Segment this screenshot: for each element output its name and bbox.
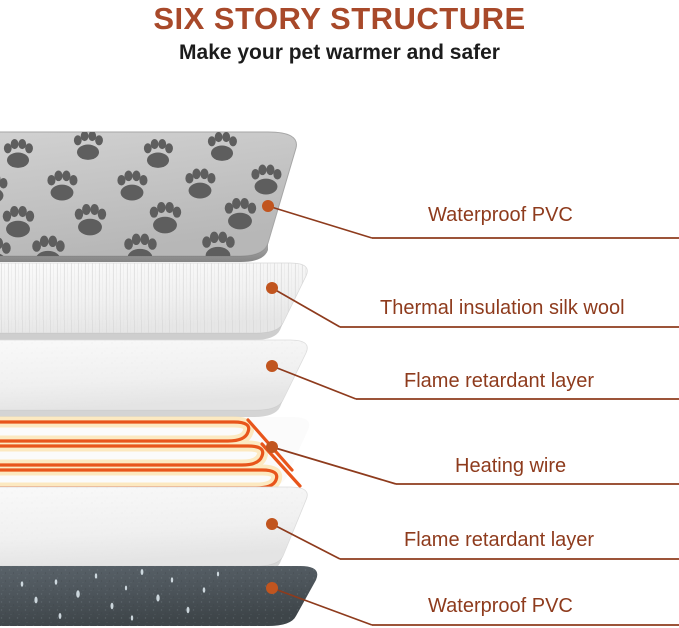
water-droplet — [125, 586, 127, 591]
water-droplet — [156, 594, 159, 601]
water-droplet — [111, 603, 114, 609]
water-droplet — [171, 577, 173, 582]
water-droplet — [131, 615, 133, 620]
leader-anchor-dot — [262, 200, 274, 212]
layer-label-silk-wool: Thermal insulation silk wool — [380, 296, 625, 320]
water-droplet — [34, 597, 37, 604]
water-droplet — [59, 613, 62, 619]
leader-anchor-dot — [266, 282, 278, 294]
water-droplet — [217, 572, 219, 577]
layer-bottom-pvc — [0, 566, 340, 628]
bottom-pvc-grain-texture — [0, 566, 340, 628]
infographic-root: SIX STORY STRUCTURE Make your pet warmer… — [0, 0, 679, 628]
layer-label-bottom-pvc: Waterproof PVC — [428, 594, 573, 618]
layer-top-pvc — [0, 131, 296, 270]
water-droplet — [187, 607, 190, 613]
water-droplet — [76, 590, 80, 598]
layer-label-top-pvc: Waterproof PVC — [428, 203, 573, 227]
layer-label-heating-wire: Heating wire — [455, 454, 566, 478]
silk-wool-fibre-texture — [0, 263, 320, 333]
layer-silk-wool — [0, 263, 320, 340]
layer-label-flame-lower: Flame retardant layer — [404, 528, 594, 552]
flame-retardant-upper-texture — [0, 340, 320, 410]
water-droplet — [95, 573, 97, 578]
layer-label-flame-upper: Flame retardant layer — [404, 369, 594, 393]
water-droplet — [203, 587, 206, 593]
leader-line — [268, 206, 372, 238]
leader-anchor-dot — [266, 360, 278, 372]
leader-anchor-dot — [266, 582, 278, 594]
leader-anchor-dot — [266, 441, 278, 453]
water-droplet — [141, 569, 144, 575]
water-droplet — [55, 579, 58, 585]
leader-anchor-dot — [266, 518, 278, 530]
water-droplet — [21, 581, 24, 587]
layer-heating-wire — [0, 417, 309, 488]
layer-flame-retardant-upper — [0, 340, 320, 417]
